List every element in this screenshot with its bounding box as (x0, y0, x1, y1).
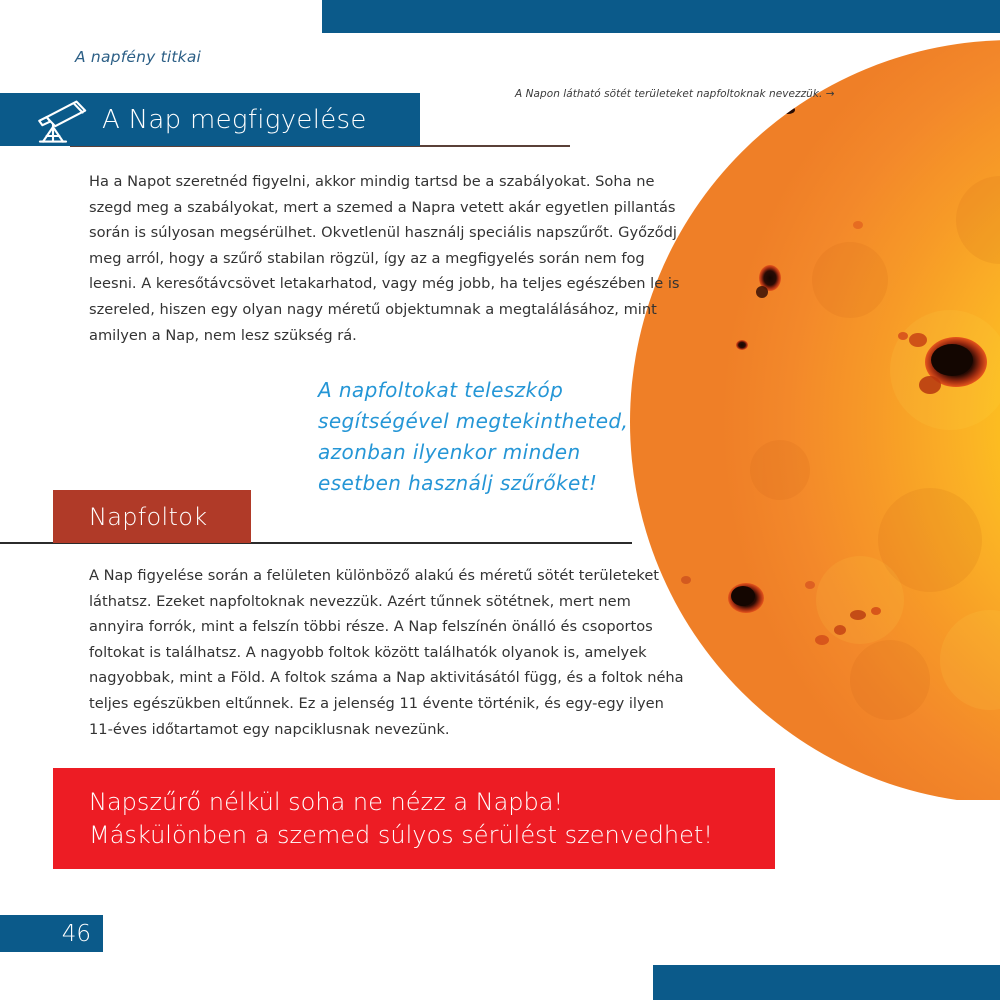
chapter-title: A Nap megfigyelése (102, 105, 367, 135)
top-blue-bar (322, 0, 1000, 33)
subheading-label: Napfoltok (89, 503, 207, 531)
running-head: A napfény titkai (75, 48, 201, 66)
intro-paragraph: Ha a Napot szeretnéd figyelni, akkor min… (89, 169, 689, 348)
figure-caption-text: A Napon látható sötét területeket napfol… (515, 88, 822, 100)
figure-caption: A Napon látható sötét területeket napfol… (515, 88, 835, 100)
textbook-page: A napfény titkai (0, 0, 1000, 1000)
napfoltok-paragraph: A Nap figyelése során a felületen különb… (89, 563, 689, 742)
warning-line-1: Napszűrő nélkül soha ne nézz a Napba! (89, 786, 775, 819)
arrow-right-icon: → (826, 88, 835, 100)
warning-box: Napszűrő nélkül soha ne nézz a Napba! Má… (53, 768, 775, 869)
warning-line-2: Máskülönben a szemed súlyos sérülést sze… (89, 819, 775, 852)
page-number: 46 (62, 921, 91, 947)
chapter-title-bar: A Nap megfigyelése (0, 93, 420, 146)
page-number-box: 46 (0, 915, 103, 952)
subheading-box: Napfoltok (53, 490, 251, 543)
bottom-blue-bar (653, 965, 1000, 1000)
handwritten-note: A napfoltokat teleszkóp segítségével meg… (318, 375, 648, 499)
telescope-icon (30, 97, 92, 143)
